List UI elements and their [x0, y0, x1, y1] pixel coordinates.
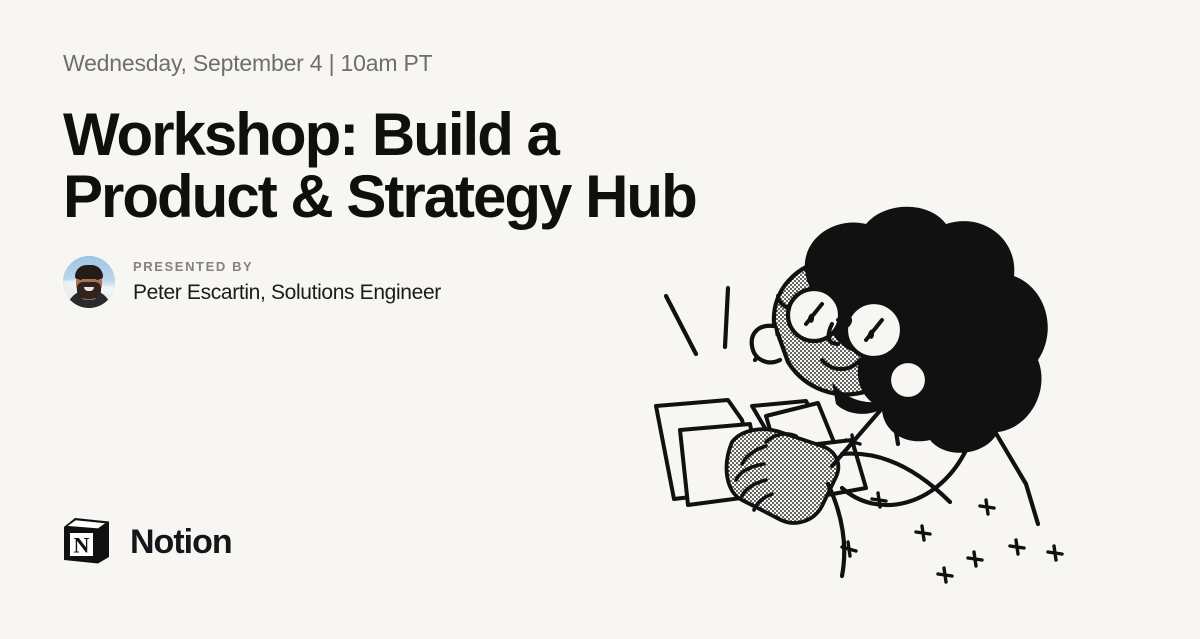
- notion-wordmark: Notion: [130, 523, 232, 562]
- earring: [889, 361, 927, 399]
- event-date-time: Wednesday, September 4 | 10am PT: [63, 50, 703, 78]
- excitement-lines: [666, 288, 792, 360]
- person-reading-book-illustration: [646, 184, 1200, 634]
- afro-hair: [805, 207, 1048, 453]
- presenter-name: Peter Escartin, Solutions Engineer: [133, 281, 441, 305]
- avatar-hair: [75, 265, 103, 279]
- brand-lockup: N Notion: [60, 513, 232, 572]
- torso: [832, 376, 1038, 524]
- promo-card: Wednesday, September 4 | 10am PT Worksho…: [0, 0, 1200, 630]
- presenter-block: PRESENTED BY Peter Escartin, Solutions E…: [63, 256, 441, 308]
- shirt-plus-marks: [842, 435, 1062, 582]
- presenter-text: PRESENTED BY Peter Escartin, Solutions E…: [133, 259, 441, 305]
- avatar: [63, 256, 115, 308]
- notion-logo-icon: N: [60, 513, 114, 572]
- head: [752, 207, 1048, 453]
- hand: [727, 429, 839, 523]
- page-title: Workshop: Build a Product & Strategy Hub: [63, 104, 703, 229]
- arm: [828, 454, 950, 576]
- event-text-block: Wednesday, September 4 | 10am PT Worksho…: [63, 50, 703, 228]
- notion-logo-letter: N: [74, 532, 90, 557]
- open-book: [656, 400, 866, 505]
- presented-by-label: PRESENTED BY: [133, 259, 441, 274]
